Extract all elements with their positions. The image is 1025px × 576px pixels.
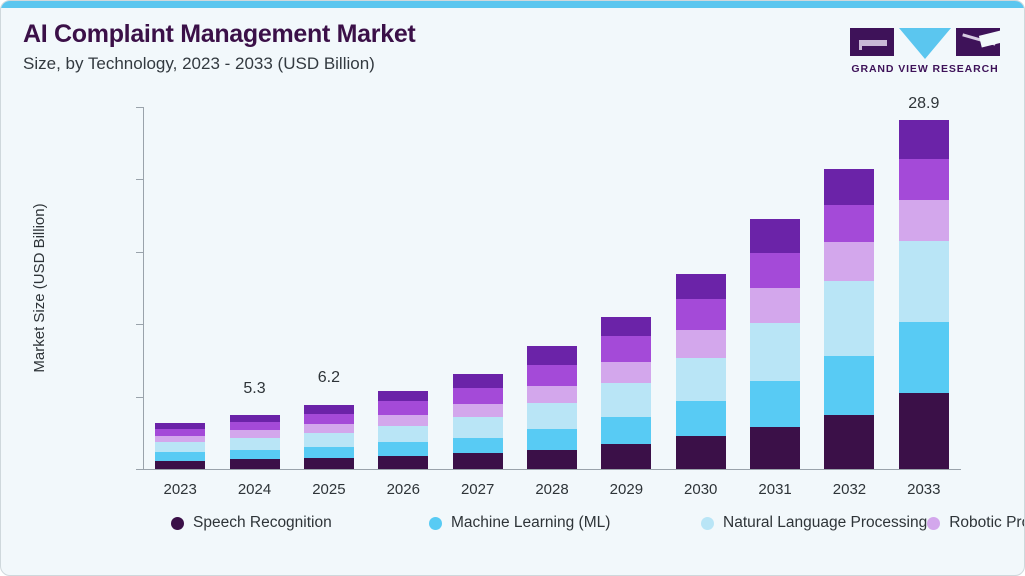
stacked-bar[interactable] <box>230 415 280 469</box>
bar-segment[interactable] <box>304 424 354 432</box>
bar-segment[interactable] <box>824 281 874 356</box>
bar-segment[interactable] <box>824 242 874 281</box>
x-axis-line <box>143 469 961 470</box>
legend-color-swatch <box>927 517 940 530</box>
bar-segment[interactable] <box>824 205 874 242</box>
legend-item[interactable]: Machine Learning (ML) <box>429 514 701 532</box>
bar-segment[interactable] <box>676 358 726 401</box>
bar-segment[interactable] <box>230 438 280 450</box>
bar-segment[interactable] <box>601 383 651 417</box>
y-tick-mark <box>136 179 143 180</box>
logo-r-icon <box>956 28 1000 56</box>
bar-segment[interactable] <box>899 200 949 241</box>
stacked-bar[interactable] <box>601 317 651 469</box>
page-subtitle: Size, by Technology, 2023 - 2033 (USD Bi… <box>23 53 415 75</box>
bar-segment[interactable] <box>527 386 577 403</box>
legend-item[interactable]: Robotic Process Automation <box>927 514 1025 532</box>
bar-segment[interactable] <box>824 415 874 469</box>
legend-item[interactable]: Natural Language Processing <box>701 514 927 532</box>
bar-segment[interactable] <box>453 417 503 438</box>
bar-segment[interactable] <box>527 429 577 450</box>
bar-segment[interactable] <box>750 288 800 323</box>
bar-segment[interactable] <box>824 356 874 415</box>
stacked-bar[interactable] <box>304 405 354 469</box>
y-axis-title: Market Size (USD Billion) <box>31 138 48 438</box>
bar-segment[interactable] <box>676 436 726 469</box>
bar-segment[interactable] <box>453 404 503 417</box>
bar-group[interactable]: 2026 <box>378 107 428 469</box>
legend-label: Machine Learning (ML) <box>451 514 610 532</box>
bar-segment[interactable] <box>899 393 949 469</box>
bar-segment[interactable] <box>378 401 428 414</box>
bar-segment[interactable] <box>750 323 800 381</box>
bar-segment[interactable] <box>899 241 949 322</box>
bar-value-label: 6.2 <box>318 369 340 387</box>
bar-segment[interactable] <box>453 388 503 404</box>
bar-segment[interactable] <box>378 391 428 402</box>
bar-segment[interactable] <box>750 381 800 427</box>
bar-segment[interactable] <box>378 415 428 426</box>
bar-group[interactable]: 2028 <box>527 107 577 469</box>
bar-segment[interactable] <box>230 459 280 469</box>
bar-segment[interactable] <box>155 429 205 436</box>
chart-header: AI Complaint Management Market Size, by … <box>23 19 415 75</box>
bar-segment[interactable] <box>601 362 651 384</box>
bar-segment[interactable] <box>304 458 354 469</box>
legend-label: Natural Language Processing <box>723 514 927 532</box>
bar-segment[interactable] <box>676 330 726 358</box>
bar-segment[interactable] <box>527 403 577 430</box>
bar-segment[interactable] <box>601 417 651 444</box>
stacked-bar[interactable] <box>899 120 949 469</box>
stacked-bar[interactable] <box>155 423 205 469</box>
y-tick-mark <box>136 252 143 253</box>
bar-segment[interactable] <box>750 219 800 253</box>
bar-segment[interactable] <box>676 401 726 436</box>
legend-color-swatch <box>171 517 184 530</box>
bar-segment[interactable] <box>453 438 503 454</box>
bar-segment[interactable] <box>378 456 428 469</box>
bar-segment[interactable] <box>378 442 428 455</box>
bar-group[interactable]: 5.32024 <box>230 107 280 469</box>
bar-segment[interactable] <box>453 453 503 469</box>
bar-segment[interactable] <box>601 444 651 469</box>
chart-legend: Speech RecognitionMachine Learning (ML)N… <box>171 510 871 536</box>
bar-segment[interactable] <box>378 426 428 443</box>
x-tick-label: 2032 <box>833 481 866 498</box>
bar-group[interactable]: 2030 <box>676 107 726 469</box>
bar-segment[interactable] <box>676 299 726 330</box>
bar-segment[interactable] <box>155 452 205 460</box>
stacked-bar[interactable] <box>824 169 874 469</box>
bar-segment[interactable] <box>155 442 205 452</box>
bar-segment[interactable] <box>750 427 800 469</box>
bar-segment[interactable] <box>230 430 280 437</box>
bar-group[interactable]: 2031 <box>750 107 800 469</box>
bar-group[interactable]: 2027 <box>453 107 503 469</box>
chart-card: AI Complaint Management Market Size, by … <box>0 0 1025 576</box>
logo-wordmark: GRAND VIEW RESEARCH <box>850 63 1000 75</box>
y-tick-mark <box>136 107 143 108</box>
y-tick-mark <box>136 469 143 470</box>
bar-segment[interactable] <box>601 317 651 336</box>
bar-segment[interactable] <box>527 346 577 365</box>
grand-view-research-logo: GRAND VIEW RESEARCH <box>850 28 1000 75</box>
x-tick-label: 2025 <box>312 481 345 498</box>
legend-color-swatch <box>701 517 714 530</box>
stacked-bar[interactable] <box>378 391 428 469</box>
bar-value-label: 5.3 <box>243 380 265 398</box>
plot-area: Market Size (USD Billion) 0.06.012.018.0… <box>143 107 961 469</box>
bar-segment[interactable] <box>601 336 651 361</box>
bar-value-label: 28.9 <box>908 95 939 113</box>
bar-group[interactable]: 6.22025 <box>304 107 354 469</box>
bar-segment[interactable] <box>304 433 354 447</box>
legend-label: Speech Recognition <box>193 514 332 532</box>
bar-segment[interactable] <box>304 447 354 458</box>
bar-segment[interactable] <box>155 461 205 469</box>
logo-v-triangle-icon <box>899 28 951 59</box>
bar-segment[interactable] <box>230 450 280 460</box>
x-tick-label: 2027 <box>461 481 494 498</box>
bar-segment[interactable] <box>304 414 354 425</box>
bar-segment[interactable] <box>750 253 800 288</box>
top-accent-bar <box>1 1 1025 8</box>
bar-segment[interactable] <box>230 422 280 430</box>
bar-segment[interactable] <box>824 169 874 205</box>
legend-item[interactable]: Speech Recognition <box>171 514 429 532</box>
x-tick-label: 2023 <box>163 481 196 498</box>
bar-segment[interactable] <box>304 405 354 413</box>
bar-group[interactable]: 28.92033 <box>899 107 949 469</box>
stacked-bar[interactable] <box>676 274 726 469</box>
y-tick-mark <box>136 397 143 398</box>
bar-segment[interactable] <box>899 159 949 200</box>
x-tick-label: 2029 <box>610 481 643 498</box>
bar-group[interactable]: 2029 <box>601 107 651 469</box>
bar-segment[interactable] <box>453 374 503 388</box>
x-tick-label: 2031 <box>758 481 791 498</box>
bar-series-container: 20235.320246.220252026202720282029203020… <box>143 107 961 469</box>
bar-group[interactable]: 2023 <box>155 107 205 469</box>
legend-label: Robotic Process Automation <box>949 514 1025 532</box>
legend-color-swatch <box>429 517 442 530</box>
x-tick-label: 2024 <box>238 481 271 498</box>
x-tick-label: 2028 <box>535 481 568 498</box>
bar-group[interactable]: 2032 <box>824 107 874 469</box>
bar-segment[interactable] <box>230 415 280 422</box>
y-tick-mark <box>136 324 143 325</box>
x-tick-label: 2033 <box>907 481 940 498</box>
stacked-bar[interactable] <box>750 219 800 469</box>
x-tick-label: 2030 <box>684 481 717 498</box>
x-tick-label: 2026 <box>387 481 420 498</box>
bar-segment[interactable] <box>527 365 577 386</box>
stacked-bar[interactable] <box>527 346 577 469</box>
bar-segment[interactable] <box>527 450 577 469</box>
bar-segment[interactable] <box>899 322 949 393</box>
logo-marks <box>850 28 1000 58</box>
logo-g-icon <box>850 28 894 56</box>
bar-segment[interactable] <box>899 120 949 159</box>
stacked-bar[interactable] <box>453 374 503 469</box>
page-title: AI Complaint Management Market <box>23 19 415 49</box>
bar-segment[interactable] <box>676 274 726 299</box>
